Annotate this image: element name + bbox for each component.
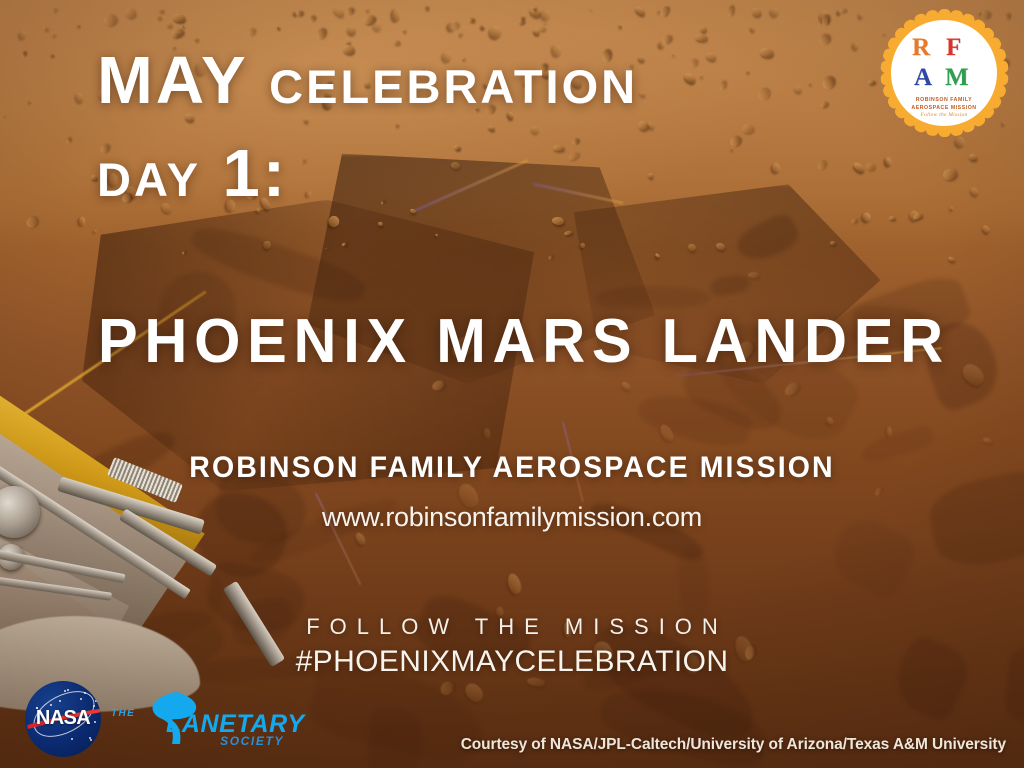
rfam-letter-f: F	[946, 35, 961, 60]
surface-pebble	[307, 191, 312, 197]
rfam-letter-a: A	[914, 65, 932, 90]
headline-celebration: Celebration	[269, 43, 638, 118]
surface-pebble	[391, 8, 400, 21]
headline-line-2: Day 1:	[97, 142, 288, 206]
organization-name: Robinson Family Aerospace Mission	[26, 451, 999, 485]
surface-pebble	[647, 172, 653, 178]
surface-pebble	[830, 241, 835, 245]
nasa-logo: NASA	[22, 678, 104, 760]
surface-pebble	[638, 121, 648, 131]
headline-month: MAY	[97, 43, 248, 118]
surface-pebble	[451, 23, 458, 31]
image-credit: Courtesy of NASA/JPL-Caltech/University …	[461, 736, 1006, 754]
nasa-star	[90, 739, 92, 741]
tps-the-label: THE	[111, 708, 135, 719]
badge-organization-name: ROBINSON FAMILY AEROSPACE MISSION	[880, 97, 1008, 113]
surface-pebble	[275, 25, 279, 28]
rfam-logo-badge: R F A M ROBINSON FAMILY AEROSPACE MISSIO…	[880, 9, 1008, 137]
badge-contents: R F A M ROBINSON FAMILY AEROSPACE MISSIO…	[880, 9, 1008, 137]
surface-pebble	[552, 217, 564, 226]
surface-pebble	[309, 16, 314, 22]
website-url[interactable]: www.robinsonfamilymission.com	[0, 502, 1024, 533]
nasa-star	[95, 700, 97, 702]
badge-name-line-1: ROBINSON FAMILY	[880, 97, 1008, 105]
surface-pebble	[454, 145, 460, 150]
nasa-wordmark: NASA	[22, 707, 104, 730]
badge-tagline: Follow the Mission	[880, 112, 1008, 118]
surface-pebble	[553, 145, 564, 151]
rfam-letter-r: R	[912, 35, 930, 60]
surface-pebble	[531, 8, 534, 13]
hashtag: #PHOENIXMAYCELEBRATION	[0, 645, 1024, 679]
surface-pebble	[91, 175, 97, 181]
page-title: Phoenix Mars Lander	[98, 306, 950, 377]
nasa-star	[71, 738, 73, 740]
nasa-star	[67, 689, 69, 691]
mars-celebration-poster: MAY Celebration Day 1: Phoenix Mars Land…	[0, 0, 1024, 768]
rfam-letter-m: M	[945, 65, 969, 90]
headline-line-1: MAY Celebration	[97, 49, 638, 113]
tps-society-label: SOCIETY	[220, 734, 284, 748]
surface-pebble	[30, 101, 32, 104]
planetary-society-logo: THE LANETARY SOCIETY	[108, 690, 288, 756]
follow-the-mission-label: Follow the Mission	[0, 614, 1024, 640]
